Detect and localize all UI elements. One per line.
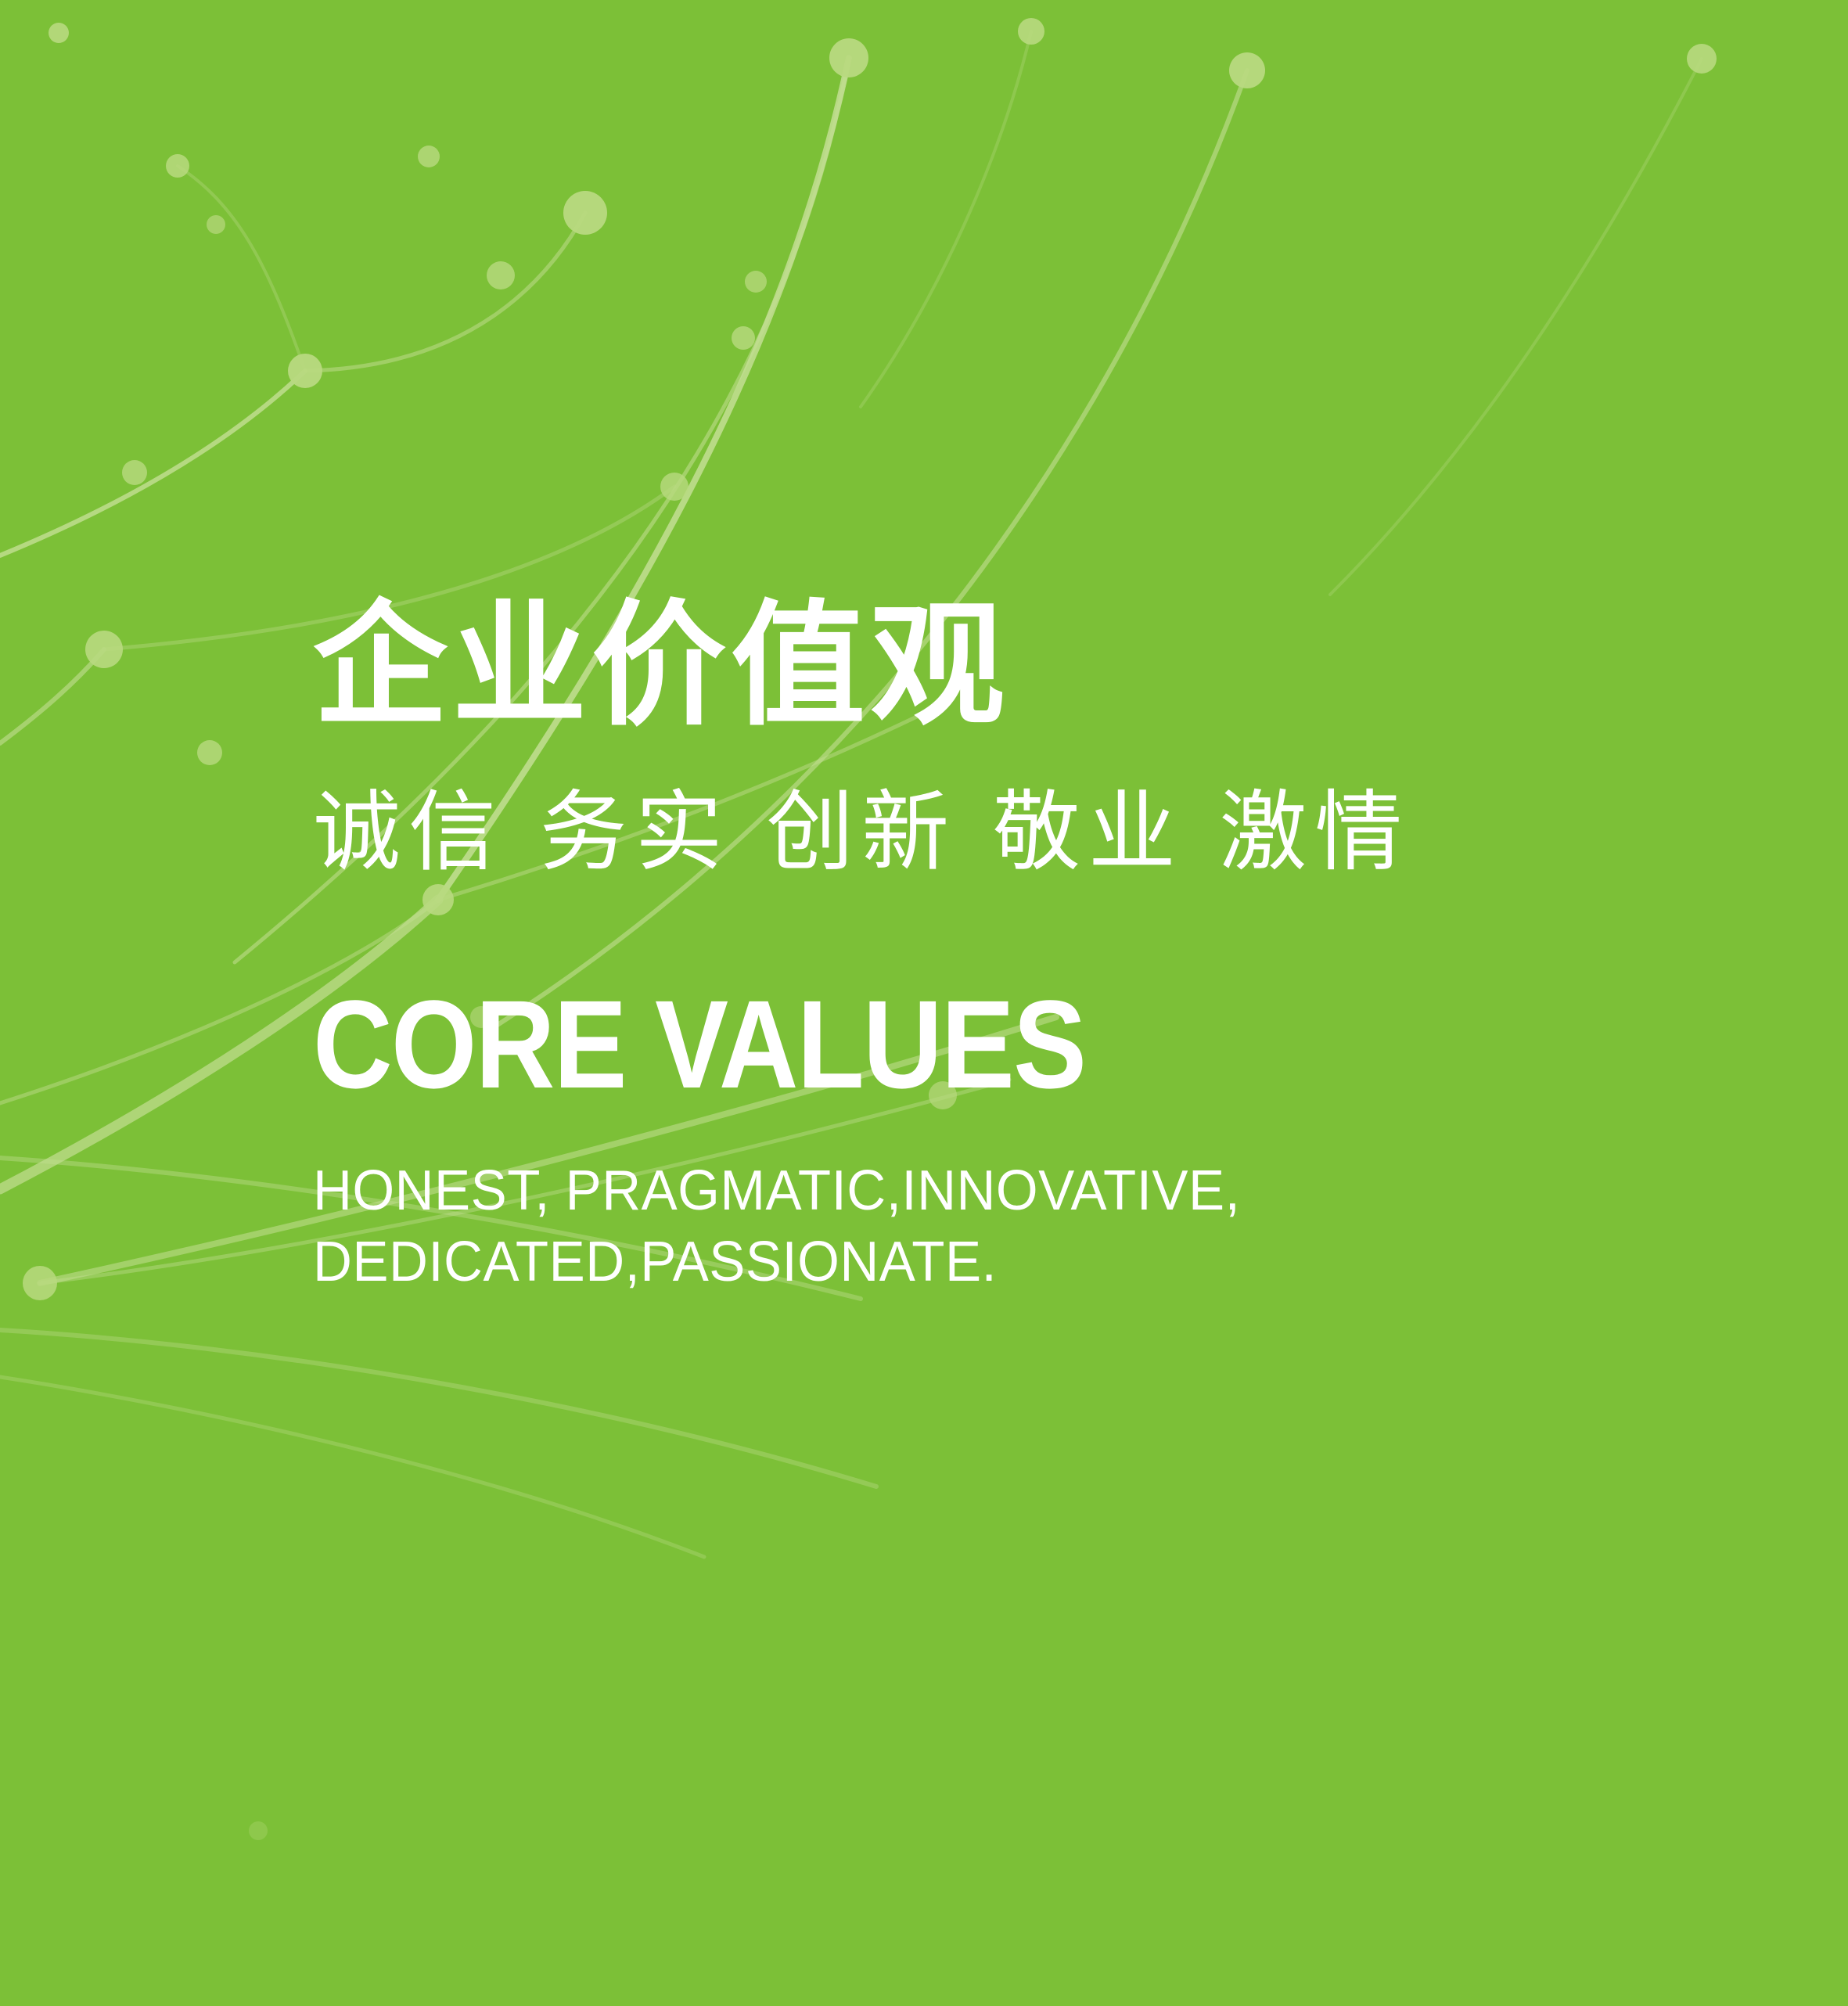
body-line-1: HONEST, PRAGMATIC,INNOVATIVE, bbox=[313, 1156, 1665, 1227]
page-title-english: CORE VALUES bbox=[313, 982, 1552, 1107]
page-subtitle-chinese: 诚信 务实 创新 敬业 激情 bbox=[313, 786, 1721, 880]
page-body-english: HONEST, PRAGMATIC,INNOVATIVE, DEDICATED,… bbox=[313, 1156, 1665, 1297]
page-title-chinese: 企业价值观 bbox=[313, 595, 1721, 737]
body-line-2: DEDICATED,PASSIONATE. bbox=[313, 1227, 1665, 1298]
core-values-poster: 企业价值观 诚信 务实 创新 敬业 激情 CORE VALUES HONEST,… bbox=[0, 0, 1848, 2006]
poster-content: 企业价值观 诚信 务实 创新 敬业 激情 CORE VALUES HONEST,… bbox=[313, 595, 1721, 1298]
